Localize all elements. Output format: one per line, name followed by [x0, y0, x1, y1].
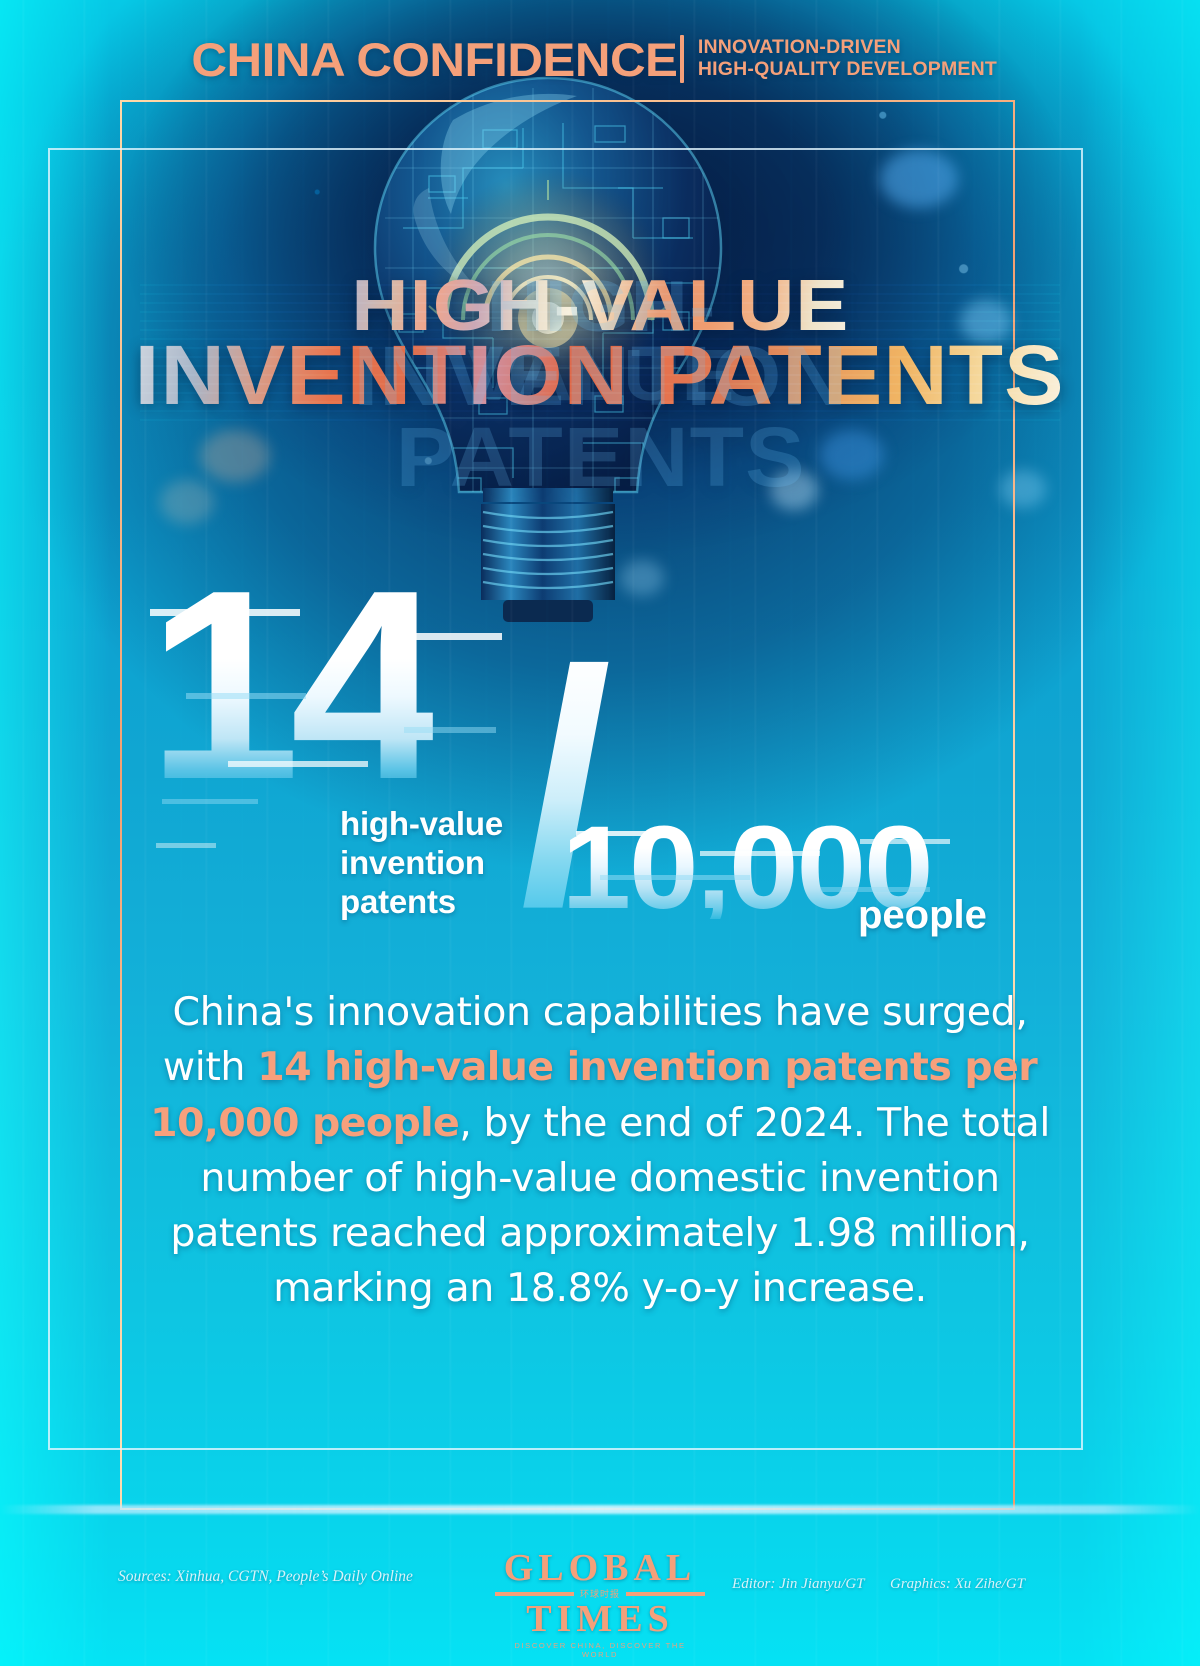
- headline: HIGH-VALUE INVENTION PATENTS: [0, 272, 1200, 416]
- stat-label-left-line3: patents: [340, 883, 503, 922]
- right-edge-glow: [1080, 0, 1200, 1666]
- bokeh-dot: [770, 470, 818, 510]
- left-edge-glow: [0, 0, 110, 1666]
- tech-background: [95, 0, 1105, 640]
- statistic-block: 14 / high-value invention patents 10,000…: [0, 575, 1200, 975]
- bokeh-dot: [960, 300, 1012, 344]
- glitch-overlay: [140, 278, 1060, 428]
- stat-denominator-unit: people: [858, 893, 987, 938]
- page-title: CHINA CONFIDENCE: [191, 32, 677, 87]
- header-subtitle-line1: INNOVATION-DRIVEN: [698, 37, 997, 59]
- lightbulb-icon: [333, 68, 763, 628]
- headline-line-1: HIGH-VALUE: [351, 272, 849, 341]
- logo-text-times: TIMES: [495, 1601, 705, 1637]
- stat-label-left-line1: high-value: [340, 805, 503, 844]
- logo-rule-right: [626, 1592, 705, 1596]
- stat-label-left-line2: invention: [340, 844, 503, 883]
- footer-editor: Editor: Jin Jianyu/GT: [732, 1576, 864, 1592]
- horizontal-light-streak: [0, 1505, 1200, 1514]
- body-paragraph: China's innovation capabilities have sur…: [130, 985, 1070, 1317]
- stat-label-left: high-value invention patents: [340, 805, 503, 922]
- header-subtitle-line2: HIGH-QUALITY DEVELOPMENT: [698, 59, 997, 81]
- headline-line-2: INVENTION PATENTS: [135, 335, 1065, 416]
- bokeh-dot: [880, 150, 958, 208]
- footer-graphics: Graphics: Xu Zihe/GT: [890, 1576, 1025, 1592]
- header-divider: [680, 35, 684, 83]
- logo-text-global: GLOBAL: [495, 1550, 705, 1586]
- stat-slash: /: [520, 655, 612, 919]
- logo-rule-left: [495, 1592, 574, 1596]
- bokeh-dot: [200, 430, 270, 482]
- bokeh-dot: [620, 560, 664, 596]
- bokeh-dot: [1000, 470, 1046, 508]
- infographic-poster: CHINA CONFIDENCE INNOVATION-DRIVEN HIGH-…: [0, 0, 1200, 1666]
- header: CHINA CONFIDENCE INNOVATION-DRIVEN HIGH-…: [0, 28, 1200, 90]
- global-times-logo: GLOBAL 环球时报 TIMES DISCOVER CHINA, DISCOV…: [495, 1550, 705, 1659]
- bokeh-dot: [160, 480, 214, 524]
- bokeh-dot: [820, 430, 884, 480]
- footer: Sources: Xinhua, CGTN, People’s Daily On…: [0, 1540, 1200, 1666]
- header-subtitle: INNOVATION-DRIVEN HIGH-QUALITY DEVELOPME…: [698, 37, 997, 81]
- scanline-texture: [0, 0, 1200, 1666]
- stat-value: 14: [147, 575, 433, 796]
- logo-tagline: DISCOVER CHINA, DISCOVER THE WORLD: [495, 1641, 705, 1659]
- footer-sources: Sources: Xinhua, CGTN, People’s Daily On…: [118, 1568, 413, 1586]
- stat-denominator: 10,000: [562, 818, 932, 919]
- footer-credits: Editor: Jin Jianyu/GT Graphics: Xu Zihe/…: [710, 1576, 1025, 1593]
